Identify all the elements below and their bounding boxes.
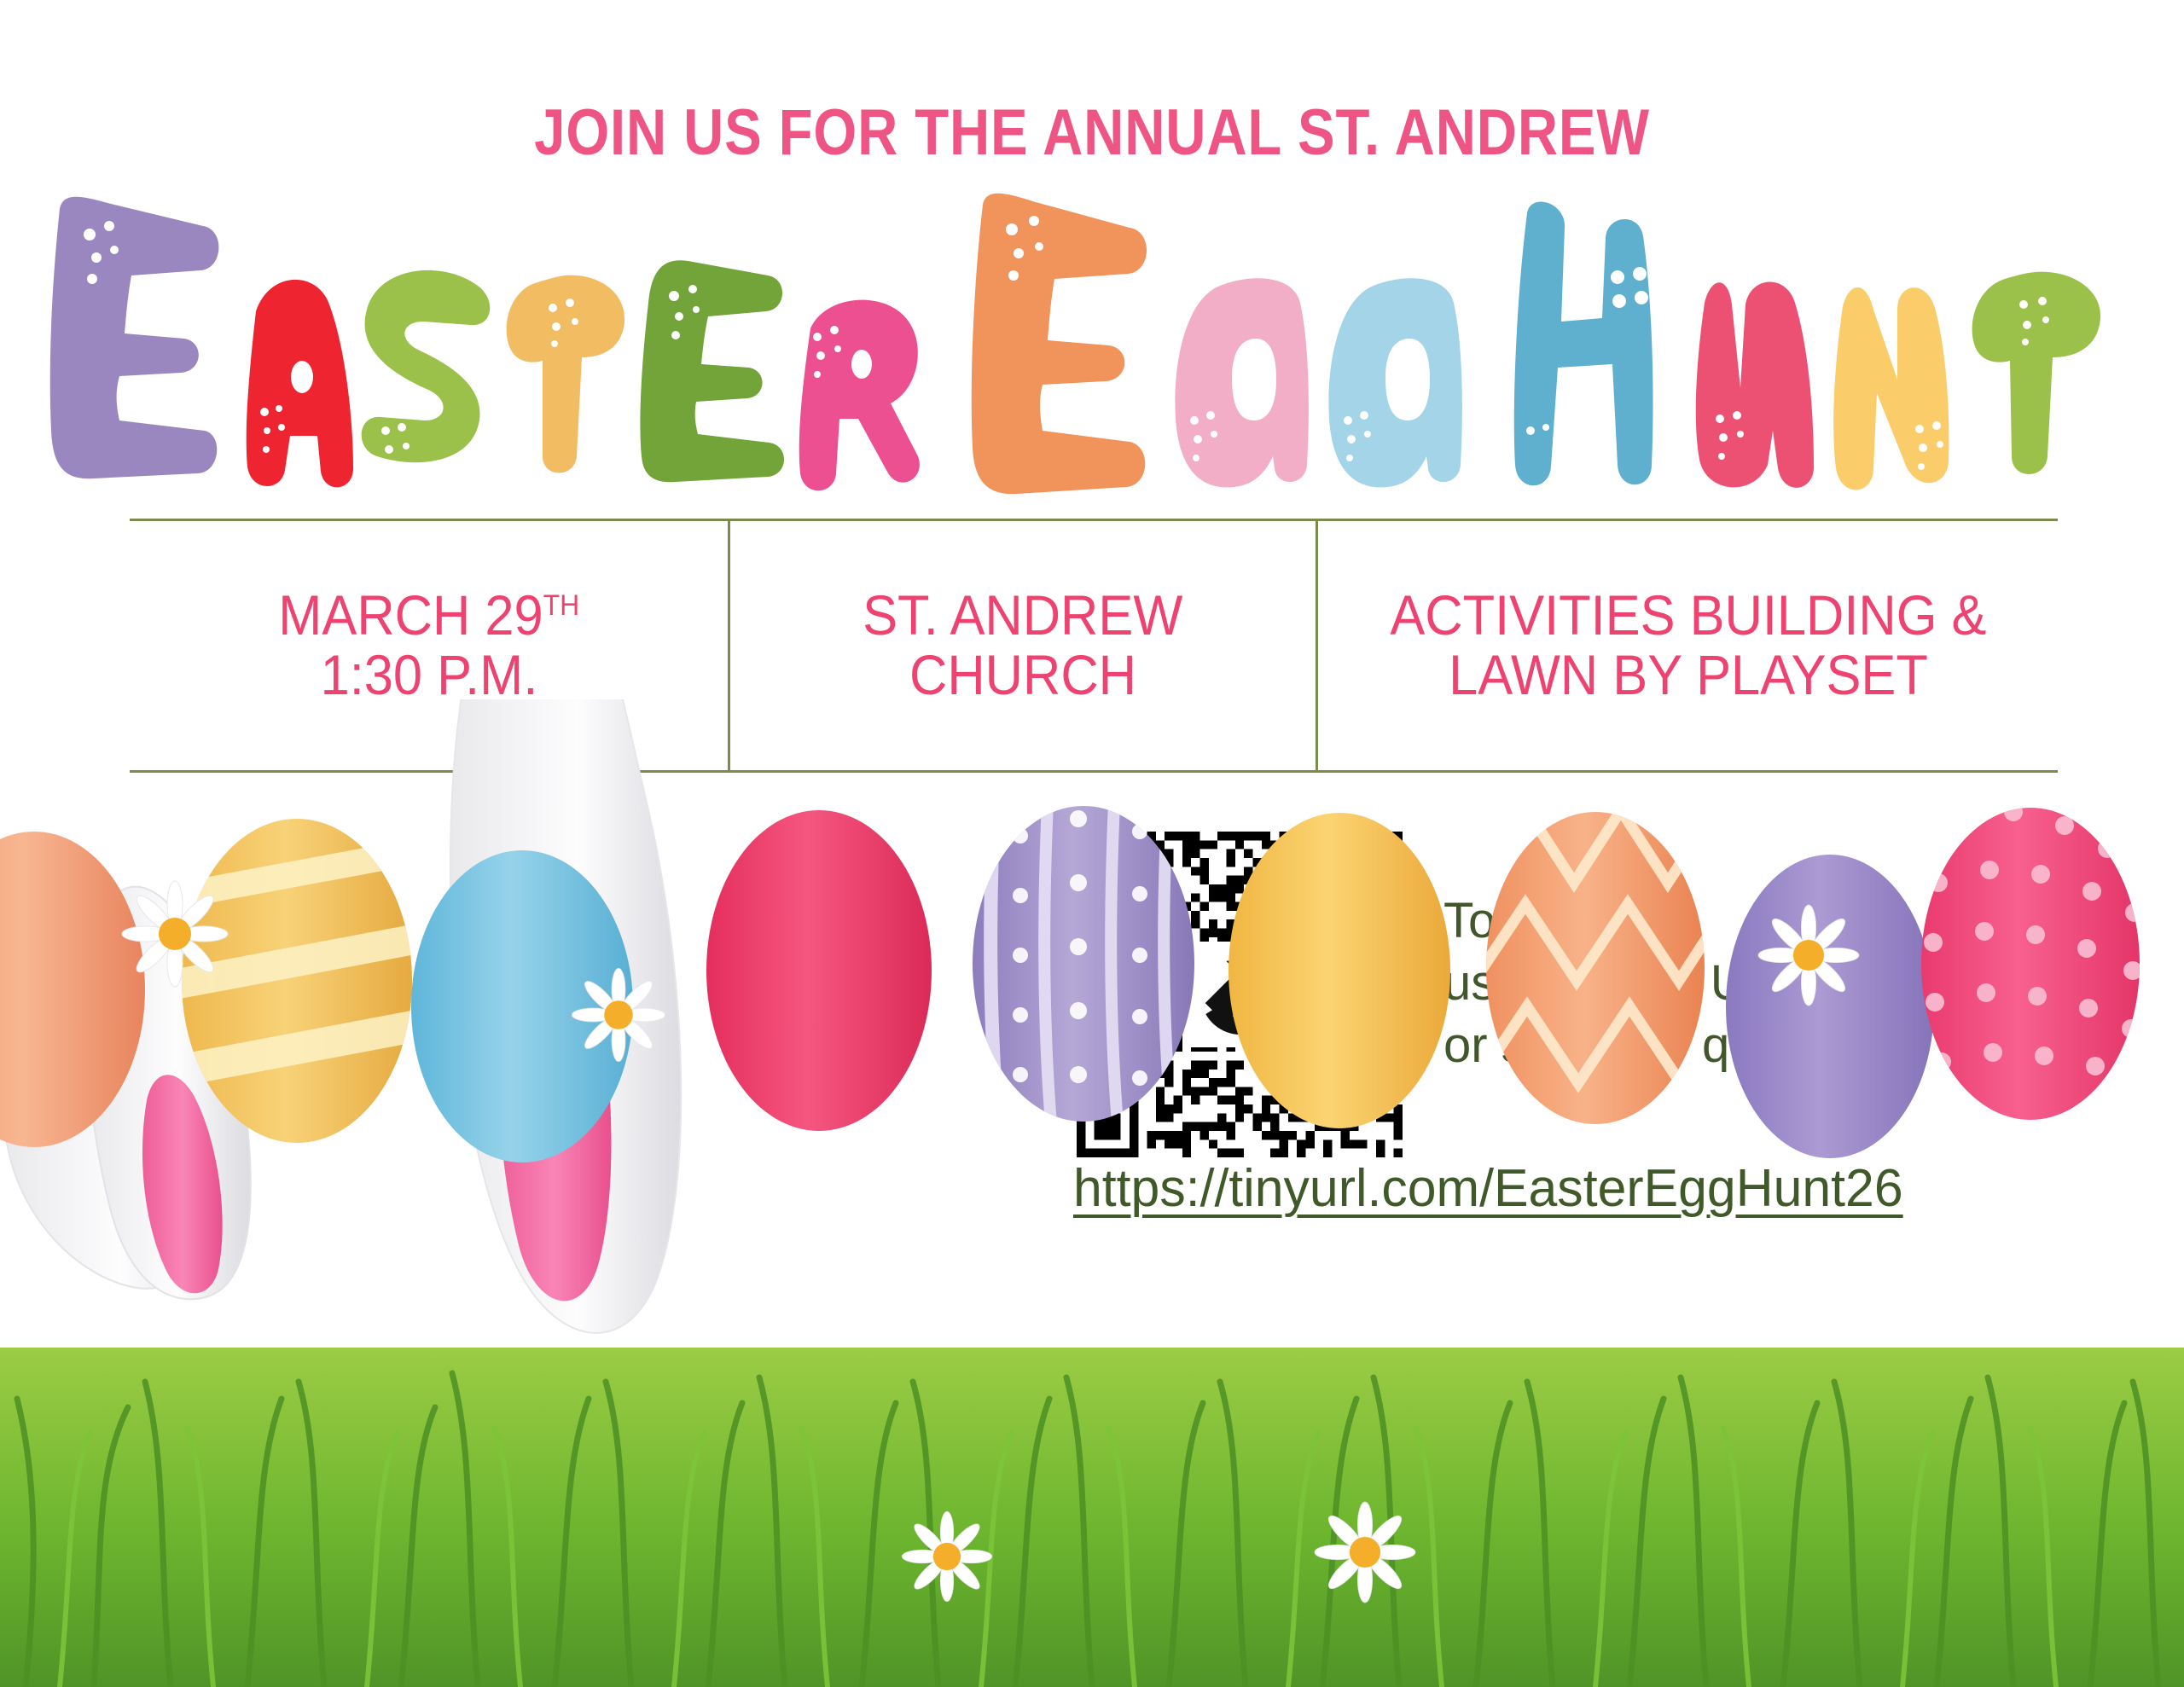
external-link-arrow-icon	[1187, 942, 1292, 1047]
detail-date-line1: MARCH 29TH	[278, 586, 579, 646]
detail-column-date: MARCH 29TH 1:30 P.M.	[130, 521, 728, 770]
egg-peach	[0, 832, 145, 1147]
detail-location-line2: LAWN BY PLAYSET	[1449, 646, 1928, 705]
band-bottom-rule	[130, 770, 2058, 773]
event-details-band: MARCH 29TH 1:30 P.M. ST. ANDREW CHURCH A…	[130, 519, 2058, 773]
grass-field	[0, 1348, 2184, 1687]
rsvp-line-3: or scan the qr code	[1443, 1014, 2075, 1076]
rsvp-line-2: use the tiny URL	[1443, 952, 2075, 1014]
rsvp-line-1: To RSVP	[1443, 890, 2075, 952]
date-ordinal-suffix: TH	[543, 589, 579, 622]
detail-venue-line2: CHURCH	[909, 646, 1136, 705]
title-letter-n	[1833, 287, 1949, 490]
rsvp-url-link[interactable]: https://tinyurl.com/EasterEggHunt26	[1073, 1158, 2010, 1219]
detail-column-venue: ST. ANDREW CHURCH	[730, 521, 1316, 770]
title-letter-u	[1696, 281, 1814, 487]
left-bunny-ear	[3, 887, 251, 1300]
detail-date-line2: 1:30 P.M.	[320, 646, 537, 705]
daisy-flower	[122, 881, 228, 987]
eyebrow-headline: JOIN US FOR THE ANNUAL ST. ANDREW	[153, 96, 2031, 170]
title-letter-e2	[640, 260, 784, 482]
daisy-flower	[1315, 1502, 1415, 1603]
qr-code[interactable]	[1077, 832, 1403, 1157]
event-title-bubble-letters	[0, 175, 2184, 512]
detail-location-line1: ACTIVITIES BUILDING &	[1390, 586, 1986, 646]
title-letter-t2	[1972, 272, 2100, 474]
detail-venue-line1: ST. ANDREW	[863, 586, 1182, 646]
egg-rose	[706, 810, 932, 1131]
title-letter-r	[799, 300, 920, 491]
egg-blue	[411, 850, 633, 1162]
event-title	[0, 175, 2184, 512]
title-letter-t	[507, 275, 625, 473]
detail-column-location: ACTIVITIES BUILDING & LAWN BY PLAYSET	[1318, 521, 2058, 770]
right-bunny-ear	[450, 699, 681, 1333]
title-letter-s	[362, 270, 491, 462]
title-letter-E1	[50, 197, 219, 478]
daisy-flower	[902, 1511, 991, 1601]
title-letter-H	[1514, 201, 1653, 485]
egg-yellow-striped	[154, 819, 461, 1143]
title-letter-E2	[972, 194, 1147, 494]
title-letter-g2	[1328, 278, 1462, 487]
title-letter-a	[247, 280, 353, 487]
rsvp-instructions: To RSVP use the tiny URL or scan the qr …	[1443, 890, 2075, 1076]
daisy-flower	[572, 968, 665, 1061]
title-letter-g1	[1175, 278, 1309, 487]
